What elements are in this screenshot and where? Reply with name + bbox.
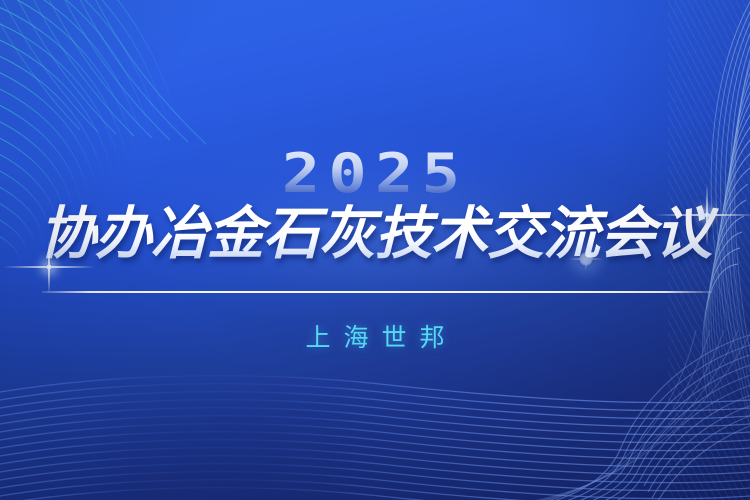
title-divider (42, 291, 712, 293)
banner-title: 协办冶金石灰技术交流会议 (0, 198, 750, 270)
banner-subtitle: 上海世邦 (0, 322, 750, 354)
banner-year: 2025 (0, 147, 750, 201)
banner-content: 2025 协办冶金石灰技术交流会议 上海世邦 (0, 0, 750, 500)
conference-banner: 2025 协办冶金石灰技术交流会议 上海世邦 (0, 0, 750, 500)
